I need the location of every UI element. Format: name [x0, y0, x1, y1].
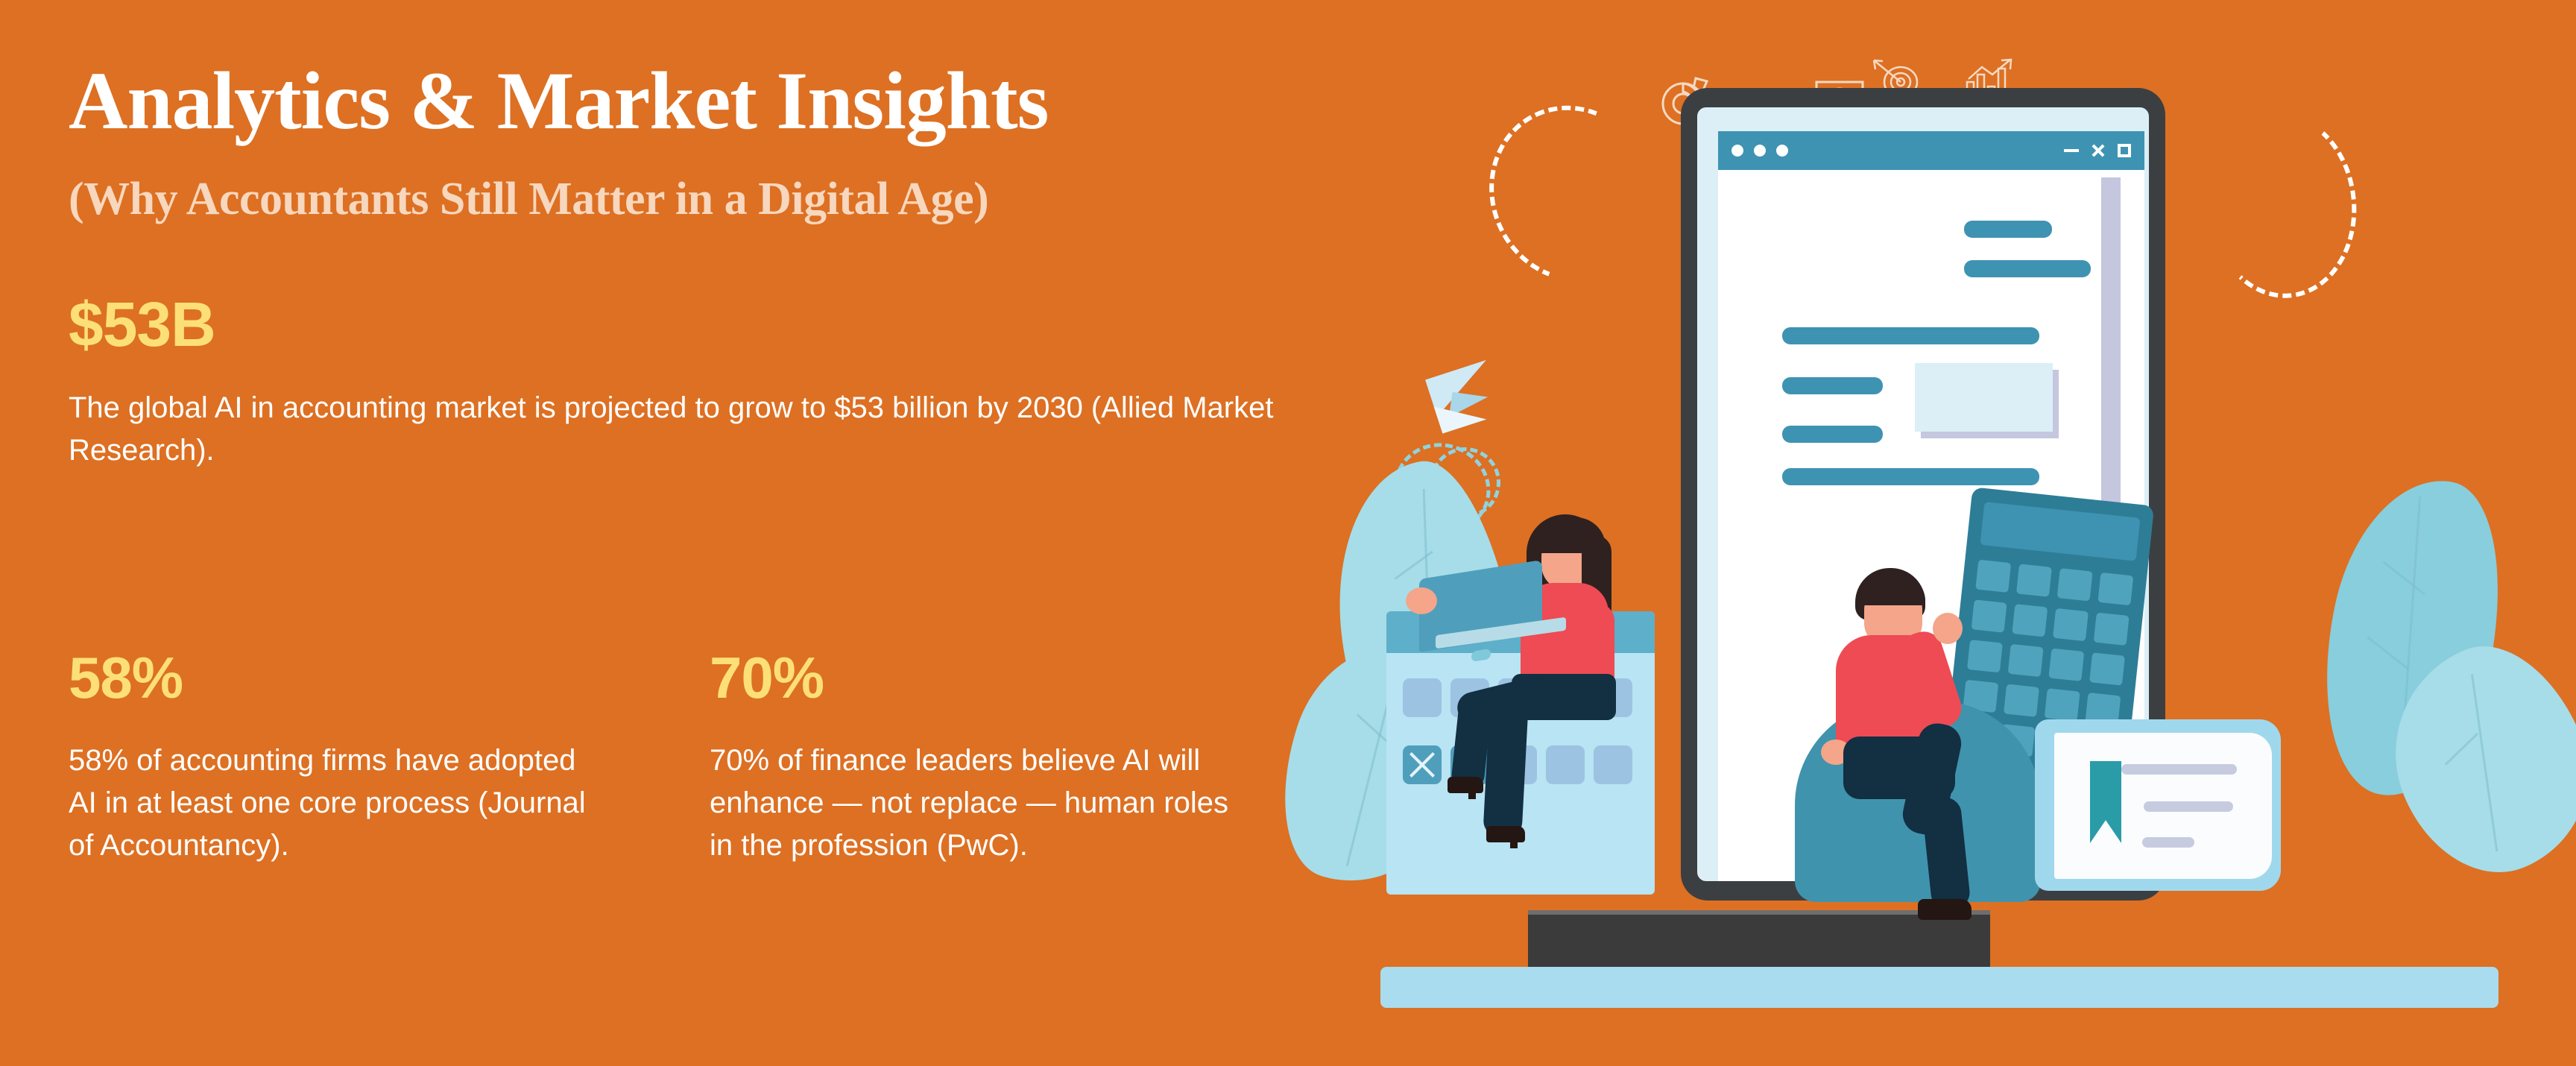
text-content-column: Analytics & Market Insights (Why Account… — [69, 58, 1485, 471]
traffic-light-dot[interactable] — [1776, 145, 1788, 157]
stat-body-70: 70% of finance leaders believe AI will e… — [710, 739, 1246, 866]
leg-lower — [1483, 701, 1528, 837]
calculator-key[interactable] — [2089, 652, 2125, 685]
stat-body-primary: The global AI in accounting market is pr… — [69, 387, 1403, 472]
shoe — [1486, 826, 1525, 842]
infographic-canvas: Analytics & Market Insights (Why Account… — [0, 0, 2576, 1066]
calculator-screen — [1980, 502, 2141, 561]
dashed-circle-left-icon — [1461, 78, 1685, 309]
content-bar — [1782, 468, 2039, 485]
stat-number-58: 58% — [69, 649, 635, 707]
stat-body-58: 58% of accounting firms have adopted AI … — [69, 739, 605, 866]
content-bar — [1782, 327, 2039, 344]
close-icon[interactable] — [2091, 143, 2106, 158]
shoe-heel — [1510, 826, 1518, 848]
bookmark-icon — [2090, 761, 2121, 843]
traffic-lights — [1731, 145, 1788, 157]
hand — [1406, 587, 1437, 614]
calculator-key[interactable] — [2094, 613, 2130, 646]
man-sitting — [1822, 574, 2039, 887]
woman-with-laptop — [1422, 514, 1646, 827]
traffic-light-dot[interactable] — [1754, 145, 1766, 157]
window-controls — [2064, 143, 2131, 158]
dashed-circle-right-icon — [2197, 104, 2365, 306]
floor-shelf — [1380, 967, 2498, 1008]
browser-title-bar — [1718, 131, 2144, 170]
book-text-line — [2121, 764, 2237, 775]
scrollbar[interactable] — [2101, 177, 2121, 520]
stat-block-70: 70% 70% of finance leaders believe AI wi… — [710, 649, 1351, 866]
minimize-icon[interactable] — [2064, 149, 2079, 152]
content-bar — [1782, 377, 1883, 394]
maximize-icon[interactable] — [2118, 144, 2131, 157]
book-text-line — [2144, 801, 2233, 812]
content-bar — [1964, 260, 2091, 277]
calculator-key[interactable] — [2097, 573, 2133, 605]
open-book — [2035, 719, 2281, 891]
shoe-heel — [1468, 777, 1476, 799]
traffic-light-dot[interactable] — [1731, 145, 1743, 157]
stat-number-primary: $53B — [69, 293, 1485, 356]
book-page — [2054, 733, 2272, 879]
book-text-line — [2142, 837, 2194, 848]
content-card — [1915, 363, 2053, 432]
calculator-key[interactable] — [2057, 568, 2093, 601]
calculator-key[interactable] — [2053, 608, 2089, 641]
calculator-key[interactable] — [2045, 688, 2080, 721]
paper-plane-icon — [1430, 369, 1519, 444]
accounting-analytics-illustration — [1334, 0, 2576, 1066]
stat-number-70: 70% — [710, 649, 1351, 707]
stat-row-secondary: 58% 58% of accounting firms have adopted… — [69, 649, 1351, 866]
shoe — [1918, 899, 1972, 920]
hand — [1933, 613, 1963, 644]
laptop-logo — [1471, 649, 1491, 662]
content-bar — [1782, 426, 1883, 443]
page-subtitle: (Why Accountants Still Matter in a Digit… — [69, 173, 1485, 226]
content-bar — [1964, 221, 2052, 238]
stat-block-primary: $53B The global AI in accounting market … — [69, 293, 1485, 472]
shoe — [1448, 777, 1483, 793]
tablet-stand — [1528, 915, 1990, 967]
calculator-key[interactable] — [2048, 649, 2084, 681]
page-title: Analytics & Market Insights — [69, 58, 1485, 145]
stat-block-58: 58% 58% of accounting firms have adopted… — [69, 649, 710, 866]
